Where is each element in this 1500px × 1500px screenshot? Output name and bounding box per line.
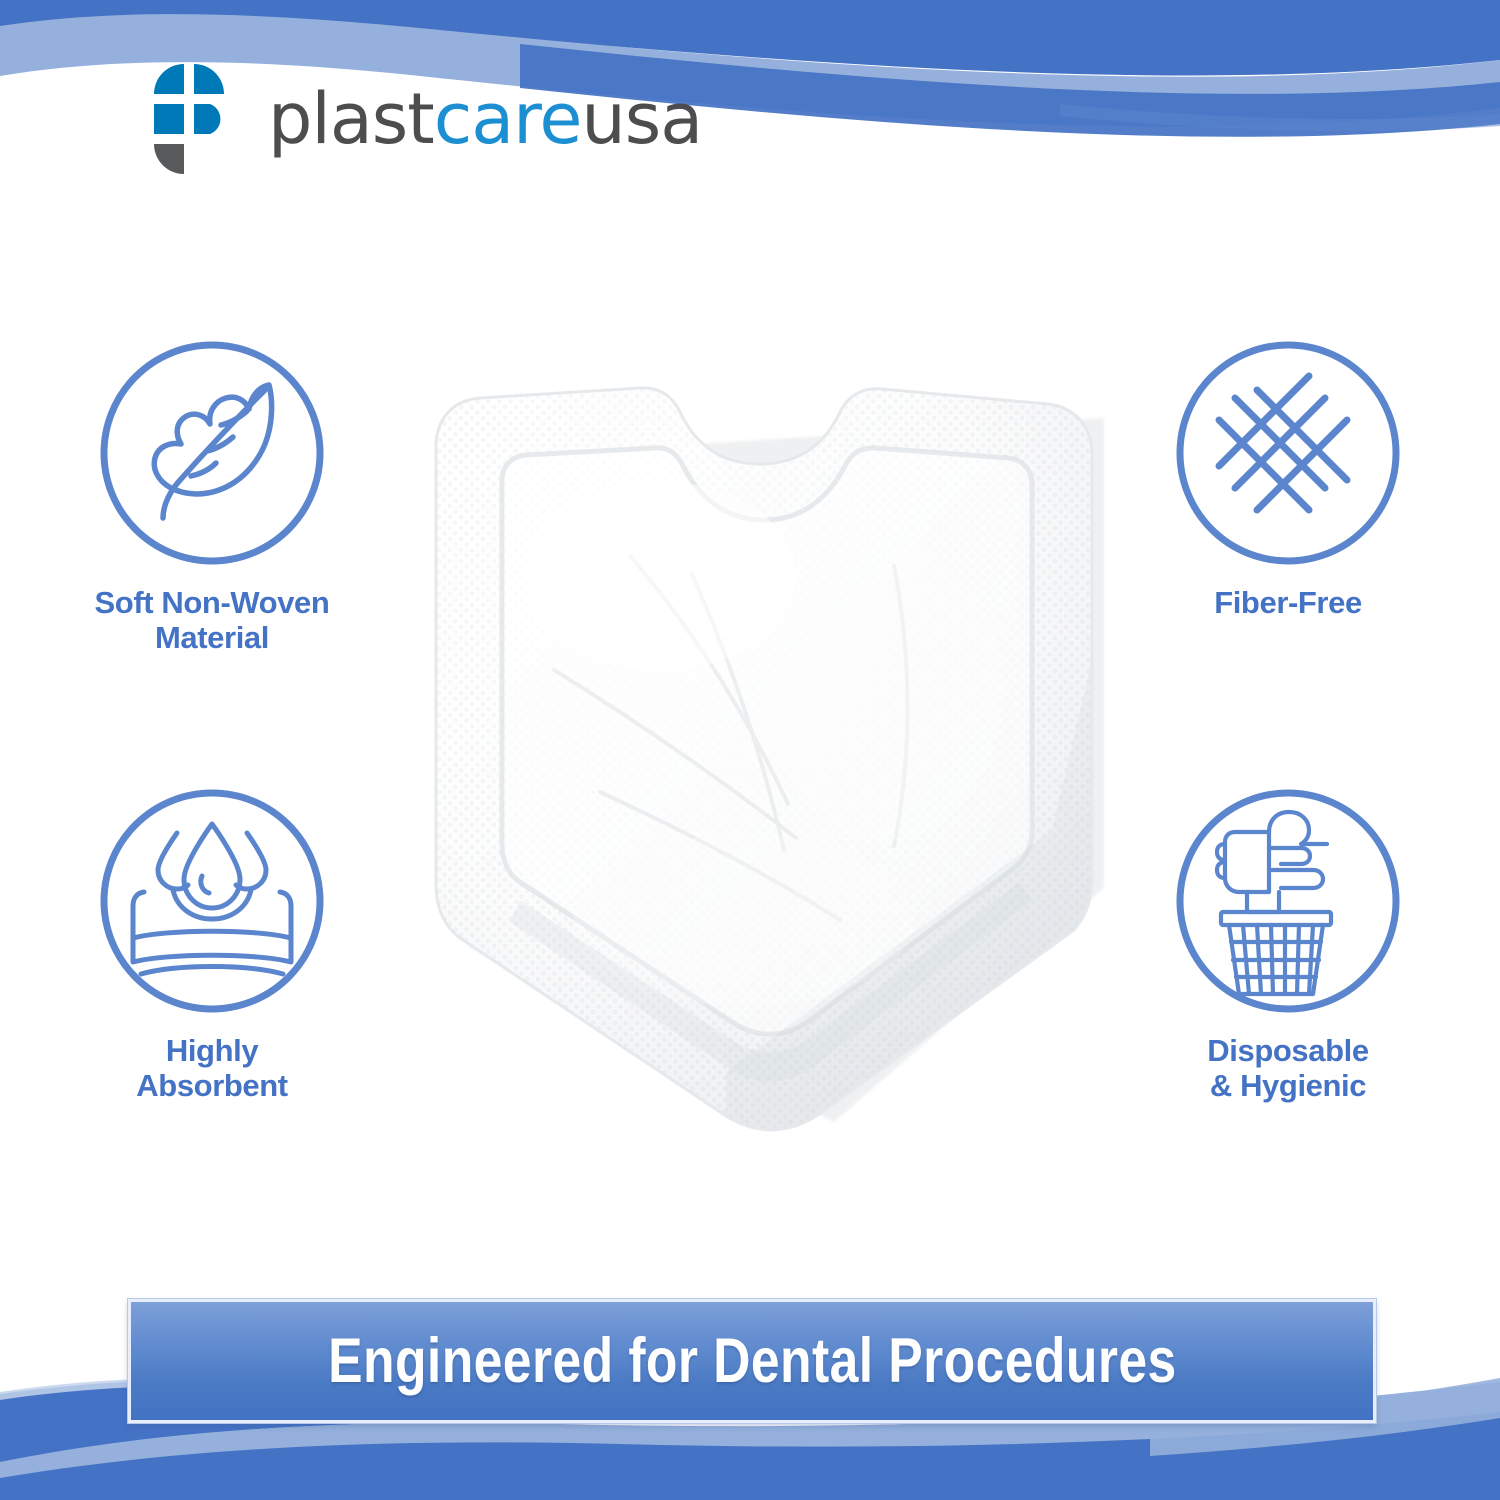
crosshatch-weave-icon <box>1173 338 1403 568</box>
headline-text: Engineered for Dental Procedures <box>328 1330 1177 1393</box>
feature-soft-non-woven: Soft Non-Woven Material <box>62 338 362 655</box>
feature-label: Disposable & Hygienic <box>1207 1034 1368 1103</box>
wave-bottom-dark2 <box>0 1412 1500 1500</box>
feature-disposable-hygienic: Disposable & Hygienic <box>1138 786 1438 1103</box>
feature-label: Soft Non-Woven Material <box>95 586 330 655</box>
headline-banner: Engineered for Dental Procedures <box>128 1299 1376 1423</box>
product-image-dental-absorbent-pad <box>392 360 1140 1150</box>
plastcare-cross-shield-mark <box>150 60 228 178</box>
feature-label: Fiber-Free <box>1214 586 1362 621</box>
feature-fiber-free: Fiber-Free <box>1138 338 1438 621</box>
feature-highly-absorbent: Highly Absorbent <box>62 786 362 1103</box>
feature-label: Highly Absorbent <box>136 1034 287 1103</box>
wordmark-usa: usa <box>581 78 702 160</box>
leaf-icon <box>97 338 327 568</box>
brand-logo: plastcareusa <box>150 60 702 178</box>
wordmark-care: care <box>434 78 582 160</box>
wordmark-plast: plast <box>268 78 434 160</box>
wave-top-hairline <box>1060 104 1500 131</box>
hand-trash-bin-icon <box>1173 786 1403 1016</box>
water-droplets-icon <box>97 786 327 1016</box>
brand-wordmark: plastcareusa <box>268 84 702 154</box>
